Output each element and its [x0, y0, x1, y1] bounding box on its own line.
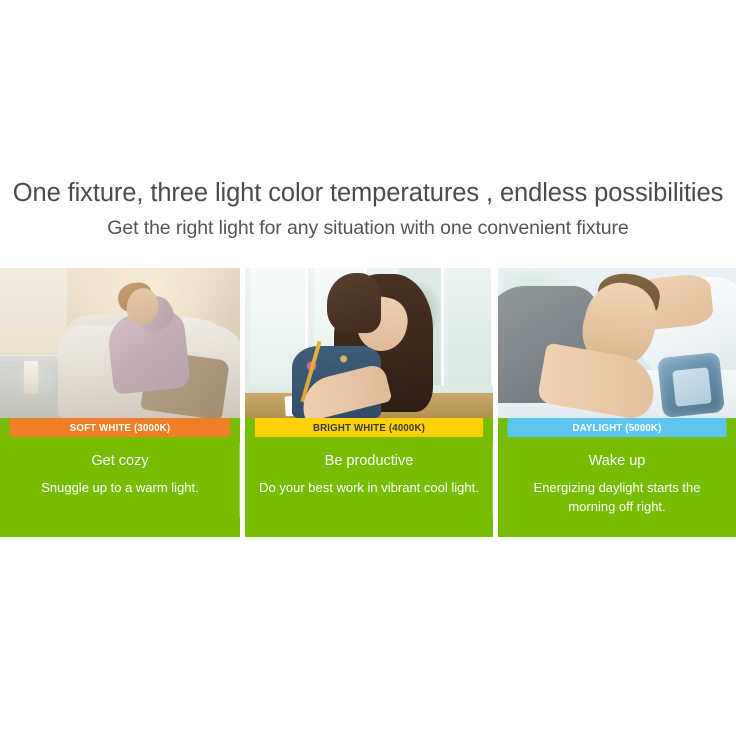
caption-description-daylight: Energizing daylight starts the morning o… — [498, 479, 736, 517]
person-hair-front-shape — [327, 273, 382, 333]
window-pane-shape — [448, 268, 493, 385]
caption-title-bright-white: Be productive — [245, 453, 493, 470]
temperature-label-soft-white: SOFT WHITE (3000K) — [10, 418, 231, 437]
caption-daylight: Wake up Energizing daylight starts the m… — [498, 437, 736, 537]
photo-bright-white-girl-writing — [245, 268, 493, 418]
column-divider — [492, 443, 493, 517]
page-subtitle: Get the right light for any situation wi… — [0, 217, 736, 240]
alarm-clock-face-shape — [672, 367, 711, 407]
column-bright-white: BRIGHT WHITE (4000K) Be productive Do yo… — [245, 268, 493, 537]
caption-bright-white: Be productive Do your best work in vibra… — [245, 437, 493, 537]
photo-daylight-man-waking — [498, 268, 736, 418]
page-title: One fixture, three light color temperatu… — [0, 178, 736, 208]
caption-title-daylight: Wake up — [498, 453, 736, 470]
caption-description-soft-white: Snuggle up to a warm light. — [0, 479, 240, 498]
temperature-label-bright-white: BRIGHT WHITE (4000K) — [255, 418, 483, 437]
column-soft-white: SOFT WHITE (3000K) Get cozy Snuggle up t… — [0, 268, 240, 537]
heading-block: One fixture, three light color temperatu… — [0, 178, 736, 240]
column-daylight: DAYLIGHT (5000K) Wake up Energizing dayl… — [498, 268, 736, 537]
caption-soft-white: Get cozy Snuggle up to a warm light. — [0, 437, 240, 537]
light-temperature-banner: SOFT WHITE (3000K) Get cozy Snuggle up t… — [0, 268, 736, 537]
temperature-label-daylight: DAYLIGHT (5000K) — [508, 418, 727, 437]
product-infographic-page: One fixture, three light color temperatu… — [0, 0, 736, 736]
caption-description-bright-white: Do your best work in vibrant cool light. — [245, 479, 493, 498]
column-divider — [239, 443, 240, 517]
caption-title-soft-white: Get cozy — [0, 453, 240, 470]
table-lamp-shape — [24, 361, 38, 394]
photo-soft-white-living-room — [0, 268, 240, 418]
